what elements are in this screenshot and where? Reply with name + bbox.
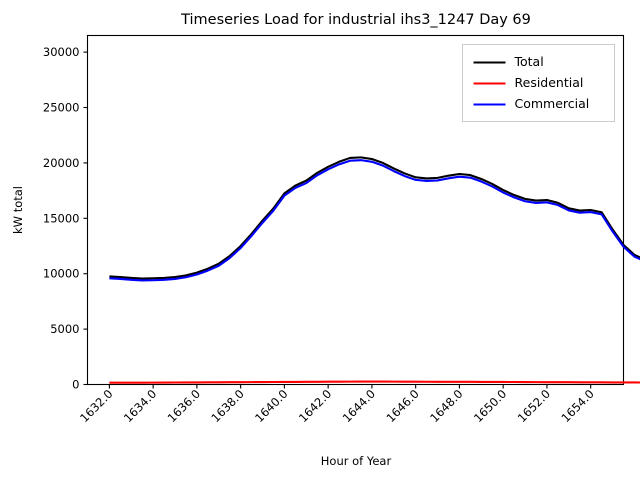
y-tick-label: 5000 — [50, 322, 79, 336]
y-tick-label: 20000 — [43, 156, 80, 170]
y-tick-label: 30000 — [43, 45, 80, 59]
legend-label-total[interactable]: Total — [514, 54, 544, 69]
legend-label-commercial[interactable]: Commercial — [515, 96, 590, 111]
chart-legend[interactable]: TotalResidentialCommercial — [463, 45, 615, 122]
chart-title: Timeseries Load for industrial ihs3_1247… — [180, 12, 531, 28]
y-axis-label: kW total — [11, 186, 25, 234]
y-tick-label: 10000 — [43, 267, 80, 281]
chart-canvas: Timeseries Load for industrial ihs3_1247… — [0, 0, 640, 480]
legend-label-residential[interactable]: Residential — [515, 75, 584, 90]
y-tick-label: 15000 — [43, 211, 80, 225]
matplotlib-figure: Timeseries Load for industrial ihs3_1247… — [0, 0, 640, 480]
x-axis-label: Hour of Year — [321, 454, 392, 468]
series-line-residential — [109, 382, 640, 383]
y-tick-label: 25000 — [43, 101, 80, 115]
y-tick-label: 0 — [72, 378, 79, 392]
